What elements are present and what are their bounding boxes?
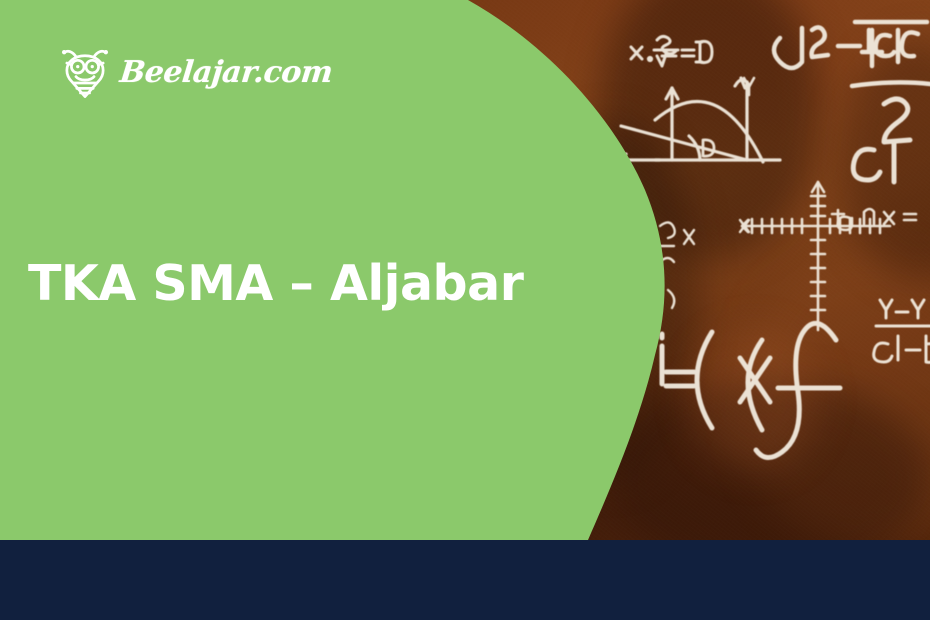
banner-title: TKA SMA – Aljabar [28, 258, 523, 311]
site-logo[interactable]: Beelajar.com [56, 44, 332, 102]
logo-wordmark: Beelajar.com [118, 58, 333, 88]
course-banner: Beelajar.com TKA SMA – Aljabar [0, 0, 930, 620]
footer-bar [0, 540, 930, 620]
bee-mascot-icon [56, 44, 114, 102]
